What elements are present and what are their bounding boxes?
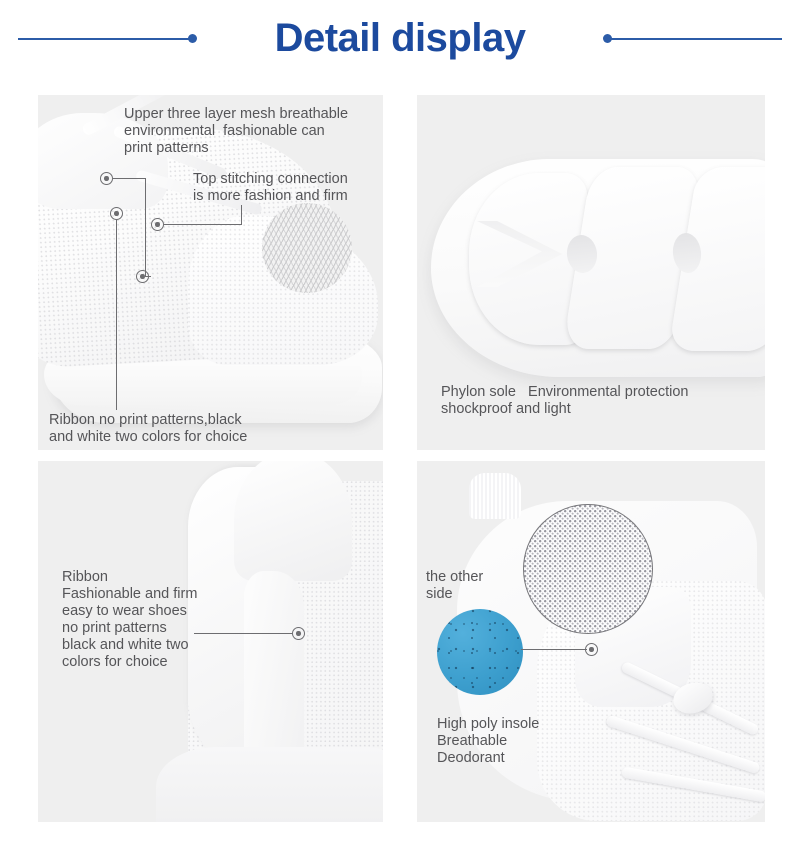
leader-line xyxy=(241,205,242,225)
other-side-caption-line-1: the other xyxy=(426,569,483,587)
upper-mesh-caption-line-3: print patterns xyxy=(124,140,209,158)
ribbon-caption-line-2: and white two colors for choice xyxy=(49,429,247,447)
ribbon-detail-caption-line-2: Fashionable and firm xyxy=(62,586,197,604)
ribbon-detail-caption-line-4: no print patterns xyxy=(62,620,167,638)
collar-shape xyxy=(234,461,352,581)
detail-panel-grid: Upper three layer mesh breathable enviro… xyxy=(0,0,800,853)
mesh-magnifier-circle xyxy=(523,504,653,634)
leader-line xyxy=(194,633,292,634)
other-side-caption-line-2: side xyxy=(426,586,453,604)
callout-marker-insole[interactable] xyxy=(585,643,598,656)
leader-line xyxy=(116,220,117,410)
ribbon-detail-caption-line-5: black and white two xyxy=(62,637,189,655)
phylon-sole-caption-line-1: Phylon sole Environmental protection xyxy=(441,384,688,402)
detail-panel-ribbon-collar[interactable]: Ribbon Fashionable and firm easy to wear… xyxy=(38,461,383,822)
ribbon-detail-caption-line-6: colors for choice xyxy=(62,654,168,672)
insole-swatch-circle xyxy=(437,609,523,695)
upper-mesh-caption-line-1: Upper three layer mesh breathable xyxy=(124,106,348,124)
top-stitching-caption-line-2: is more fashion and firm xyxy=(193,188,348,206)
leader-line xyxy=(113,178,146,179)
high-poly-insole-caption-line-1: High poly insole xyxy=(437,716,539,734)
callout-marker-upper-mesh[interactable] xyxy=(100,172,113,185)
callout-marker-top-stitching[interactable] xyxy=(151,218,164,231)
ribbon-caption-line-1: Ribbon no print patterns,black xyxy=(49,412,242,430)
leader-line xyxy=(164,224,242,225)
phylon-sole-caption-line-2: shockproof and light xyxy=(441,401,571,419)
callout-marker-ribbon-detail[interactable] xyxy=(292,627,305,640)
upper-mesh-caption-line-2: environmental fashionable can xyxy=(124,123,325,141)
callout-marker-midsole[interactable] xyxy=(136,270,149,283)
heel-shape xyxy=(156,747,383,822)
ribbon-detail-caption-line-3: easy to wear shoes xyxy=(62,603,187,621)
detail-panel-upper-mesh[interactable]: Upper three layer mesh breathable enviro… xyxy=(38,95,383,450)
callout-marker-ribbon[interactable] xyxy=(110,207,123,220)
top-stitching-caption-line-1: Top stitching connection xyxy=(193,171,348,189)
high-poly-insole-caption-line-2: Breathable xyxy=(437,733,507,751)
stitching-magnifier-circle xyxy=(262,203,352,293)
leader-line xyxy=(521,649,587,650)
ribbon-detail-caption-line-1: Ribbon xyxy=(62,569,108,587)
heel-tab-shape xyxy=(469,473,521,519)
high-poly-insole-caption-line-3: Deodorant xyxy=(437,750,505,768)
detail-panel-phylon-sole[interactable]: Phylon sole Environmental protection sho… xyxy=(417,95,765,450)
detail-panel-insole[interactable]: the other side High poly insole Breathab… xyxy=(417,461,765,822)
leader-line xyxy=(145,178,146,276)
